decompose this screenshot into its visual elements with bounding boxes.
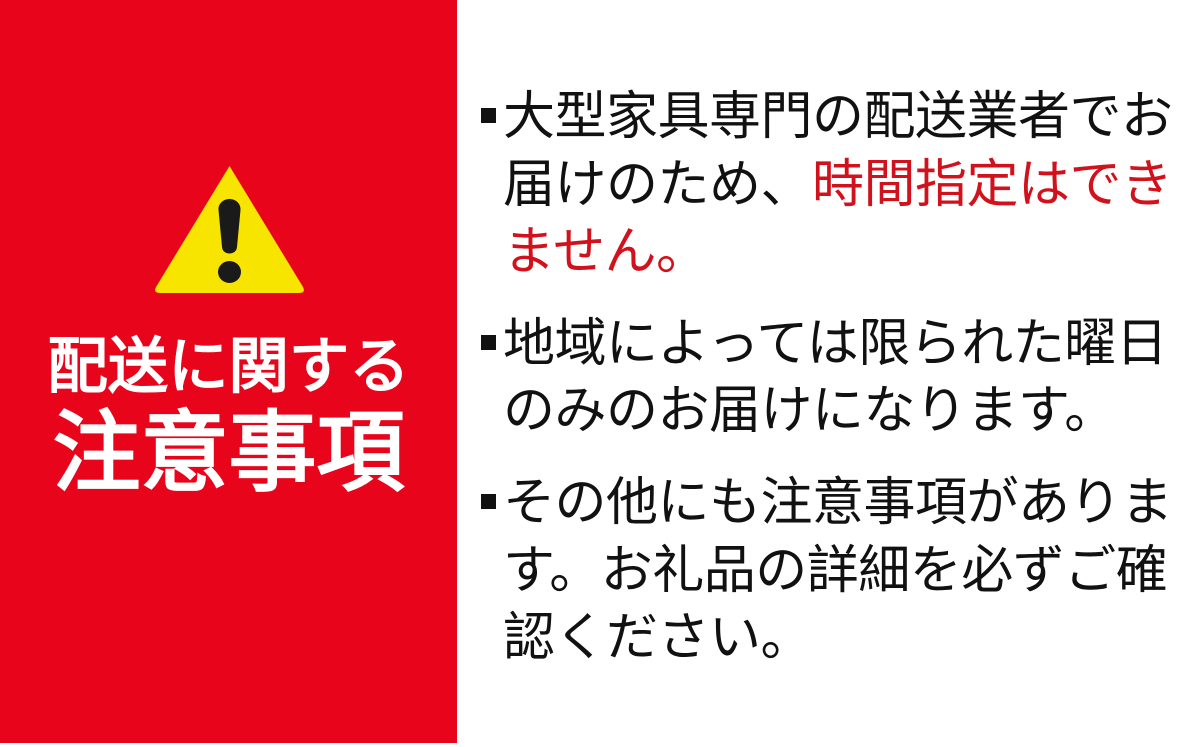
note-3-plain: その他にも注意事項があります。お礼品の詳細を必ずご確認ください。 xyxy=(503,474,1173,667)
square-bullet-icon xyxy=(481,335,496,350)
square-bullet-icon xyxy=(481,494,496,509)
note-2-plain: 地域によっては限られた曜日のみのお届けになります。 xyxy=(503,315,1167,441)
warning-triangle-exclamation-icon xyxy=(152,163,307,295)
list-item: 地域によっては限られた曜日のみのお届けになります。 xyxy=(481,311,1173,446)
square-bullet-icon xyxy=(481,108,496,123)
right-notes-panel: 大型家具専門の配送業者でお届けのため、時間指定はできません。 地域によっては限ら… xyxy=(457,0,1201,747)
panel-heading: 配送に関する 注意事項 xyxy=(0,336,457,497)
note-text-3: その他にも注意事項があります。お礼品の詳細を必ずご確認ください。 xyxy=(503,470,1173,673)
note-text-2: 地域によっては限られた曜日のみのお届けになります。 xyxy=(503,311,1173,446)
heading-line-2: 注意事項 xyxy=(0,409,457,497)
list-item: 大型家具専門の配送業者でお届けのため、時間指定はできません。 xyxy=(481,84,1173,287)
heading-line-1: 配送に関する xyxy=(2,336,454,397)
list-item: その他にも注意事項があります。お礼品の詳細を必ずご確認ください。 xyxy=(481,470,1173,673)
left-red-panel: 配送に関する 注意事項 xyxy=(0,0,457,743)
delivery-notice-banner: 配送に関する 注意事項 大型家具専門の配送業者でお届けのため、時間指定はできませ… xyxy=(0,0,1201,747)
note-text-1: 大型家具専門の配送業者でお届けのため、時間指定はできません。 xyxy=(503,84,1173,287)
